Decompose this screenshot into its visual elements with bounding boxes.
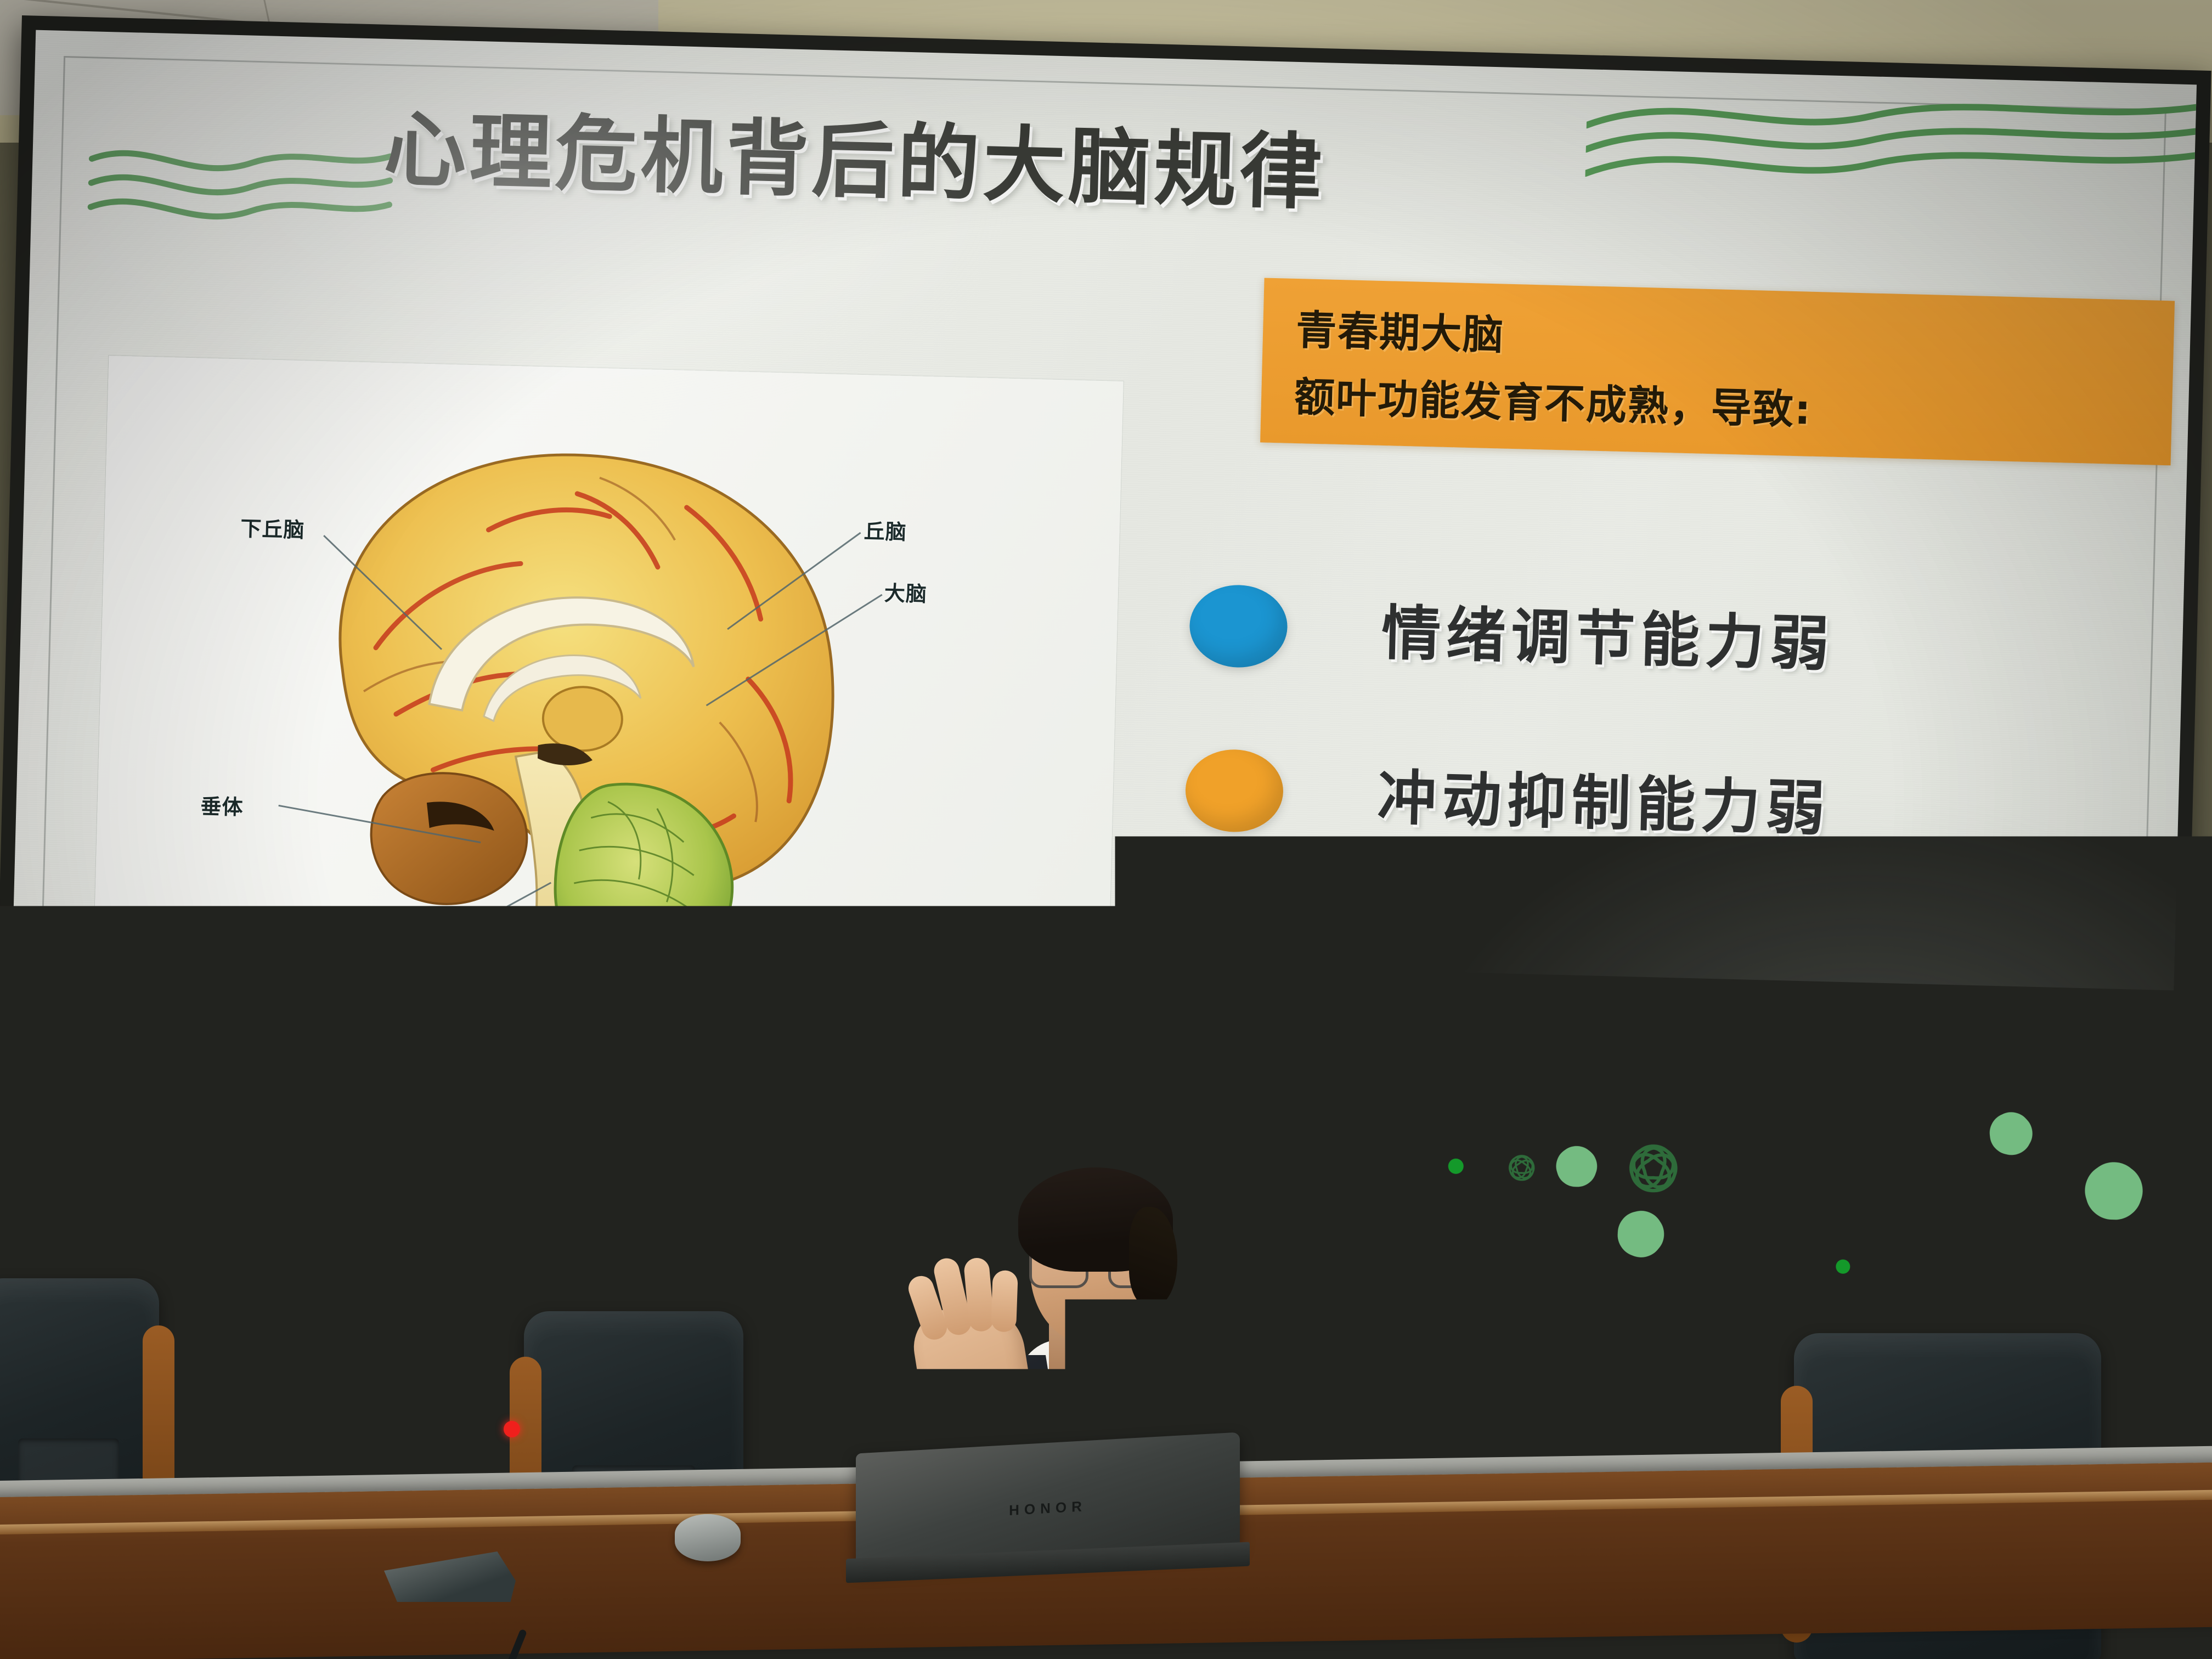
- bullet-label-emotion: 情绪调节能力弱: [1381, 585, 1836, 682]
- red-tagline: “油门”大于“刹车”: [238, 1053, 792, 1156]
- desk-microphone-puck: [675, 1514, 741, 1561]
- brain-label-thalamus: 丘脑: [864, 514, 907, 545]
- flower-decoration: [1409, 1069, 2197, 1318]
- wavy-lines-decoration-left: [86, 130, 395, 231]
- bullet-dot-purple-icon: [1180, 913, 1280, 997]
- slide-title: 心理危机背后的大脑规律: [383, 83, 1647, 234]
- brain-label-cerebellum: 小脑: [859, 944, 902, 975]
- presenter-mouth: [1068, 1307, 1105, 1321]
- brain-label-pons: 脑桥: [358, 958, 402, 989]
- conference-room-scene: 心理危机背后的大脑规律: [0, 0, 2212, 1659]
- brain-diagram-card: 下丘脑 丘脑 大脑 垂体 中脑 脑桥 延髓 小脑: [92, 356, 1123, 1028]
- brain-anatomy-illustration: [92, 356, 1123, 1028]
- bullet-item-impulse: 冲动抑制能力弱: [1183, 734, 2197, 924]
- bullet-item-selfcontrol: 自我控制能力弱: [1178, 899, 2197, 1089]
- brain-label-cerebrum: 大脑: [884, 576, 927, 607]
- wavy-lines-decoration-right: [1585, 75, 2197, 194]
- bullet-label-impulse: 冲动抑制能力弱: [1376, 750, 1832, 847]
- bullet-label-selfcontrol: 自我控制能力弱: [1372, 915, 1827, 1012]
- bullet-list: 情绪调节能力弱 冲动抑制能力弱 自我控制能力弱: [1178, 569, 2197, 1089]
- orange-callout-box: 青春期大脑 额叶功能发育不成熟，导致:: [1260, 278, 2175, 465]
- bullet-item-emotion: 情绪调节能力弱: [1187, 569, 2197, 760]
- bullet-dot-blue-icon: [1189, 584, 1289, 668]
- callout-line-2: 额叶功能发育不成熟，导致:: [1294, 364, 1813, 436]
- gooseneck-microphone-left: [384, 1437, 527, 1602]
- brain-label-hypothalamus: 下丘脑: [240, 511, 305, 543]
- callout-line-1: 青春期大脑: [1295, 297, 1505, 362]
- brain-label-pituitary: 垂体: [200, 789, 244, 821]
- bullet-dot-orange-icon: [1184, 748, 1284, 833]
- brain-label-midbrain: 中脑: [359, 923, 403, 954]
- brain-label-medulla: 延髓: [358, 993, 401, 1024]
- presenter-laptop[interactable]: HONOR: [856, 1443, 1240, 1580]
- gooseneck-microphone-presenter: [1262, 1372, 1404, 1602]
